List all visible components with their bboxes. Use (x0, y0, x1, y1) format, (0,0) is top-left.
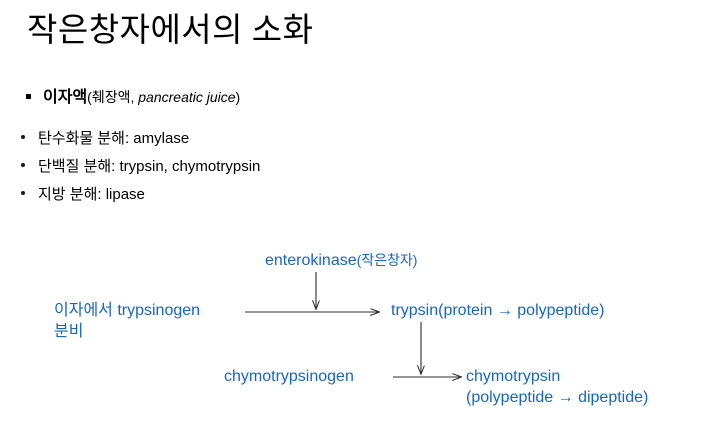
chymotrypsinogen-line1: chymotrypsinogen (224, 366, 354, 387)
chymotrypsin-line1: chymotrypsin (466, 366, 648, 387)
trypsinogen-line1: 이자에서 trypsinogen (54, 300, 200, 321)
chymotrypsin-line2: (polypeptide → dipeptide) (466, 387, 648, 408)
diagram-label-trypsinogen: 이자에서 trypsinogen 분비 (54, 300, 200, 342)
enterokinase-main: enterokinase (265, 252, 357, 269)
diagram-label-trypsin: trypsin(protein → polypeptide) (391, 300, 604, 321)
slide-canvas: 작은창자에서의 소화 이자액(췌장액, pancreatic juice) 탄수… (0, 0, 701, 429)
diagram-label-enterokinase: enterokinase(작은창자) (265, 250, 417, 271)
trypsin-line1: trypsin(protein → polypeptide) (391, 300, 604, 321)
diagram-label-chymotrypsin: chymotrypsin (polypeptide → dipeptide) (466, 366, 648, 408)
reaction-diagram: enterokinase(작은창자) 이자에서 trypsinogen 분비 t… (0, 0, 701, 429)
diagram-label-chymotrypsinogen: chymotrypsinogen (224, 366, 354, 387)
diagram-arrows (0, 0, 701, 429)
enterokinase-sub: (작은창자) (357, 252, 418, 268)
trypsinogen-line2: 분비 (54, 321, 200, 342)
